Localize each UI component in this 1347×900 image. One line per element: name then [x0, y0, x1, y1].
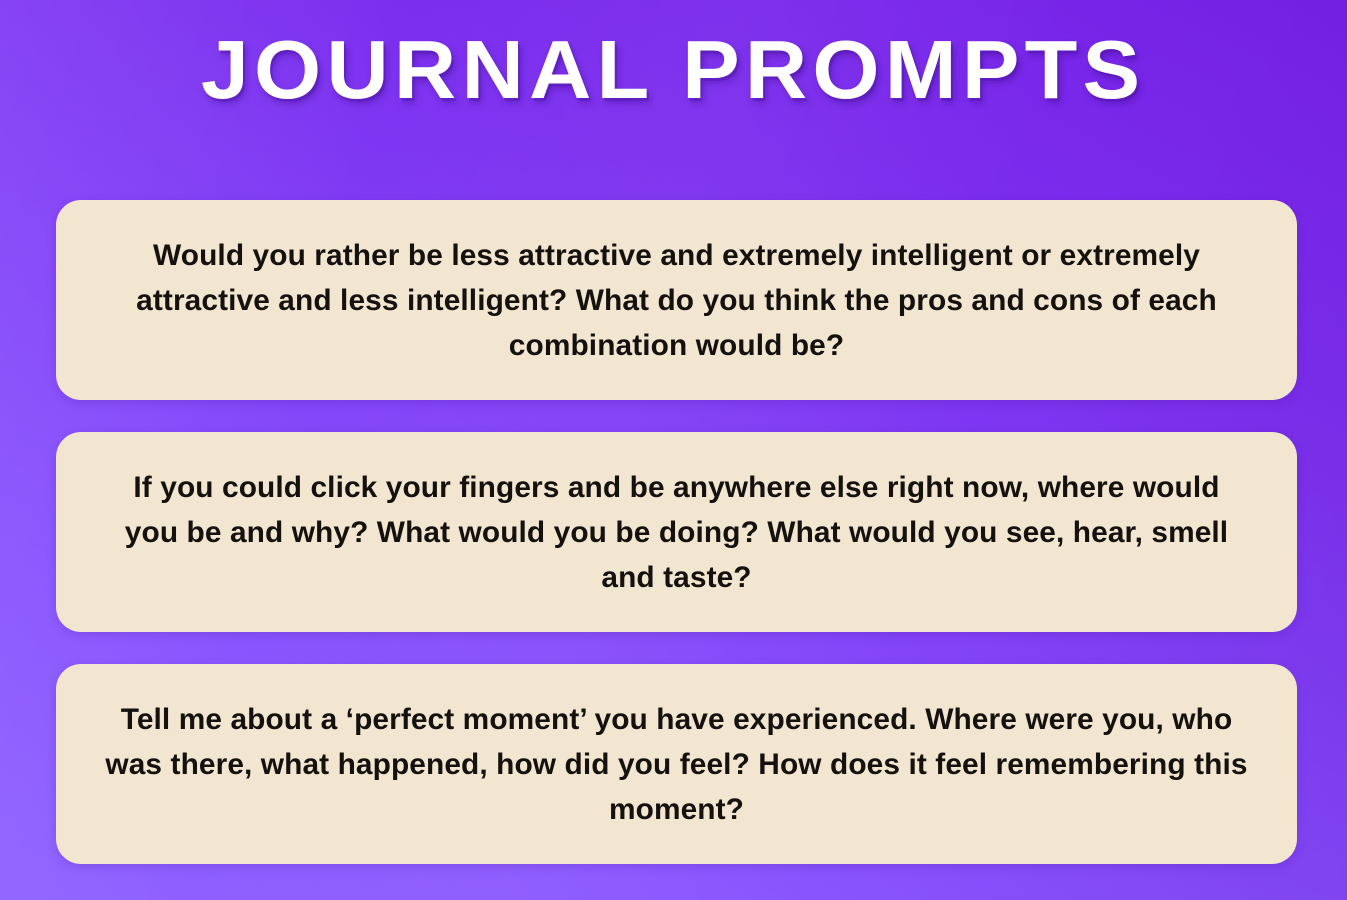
prompt-text: Tell me about a ‘perfect moment’ you hav…	[105, 697, 1248, 832]
title-container: JOURNAL PROMPTS	[0, 28, 1347, 111]
prompt-text: If you could click your fingers and be a…	[105, 465, 1248, 600]
prompt-card-list: Would you rather be less attractive and …	[56, 200, 1297, 864]
prompt-card[interactable]: Would you rather be less attractive and …	[56, 200, 1297, 400]
prompt-card[interactable]: If you could click your fingers and be a…	[56, 432, 1297, 632]
page-title: JOURNAL PROMPTS	[201, 28, 1145, 111]
prompt-card[interactable]: Tell me about a ‘perfect moment’ you hav…	[56, 664, 1297, 864]
prompt-text: Would you rather be less attractive and …	[105, 233, 1248, 368]
journal-prompts-poster: JOURNAL PROMPTS Would you rather be less…	[0, 0, 1347, 900]
